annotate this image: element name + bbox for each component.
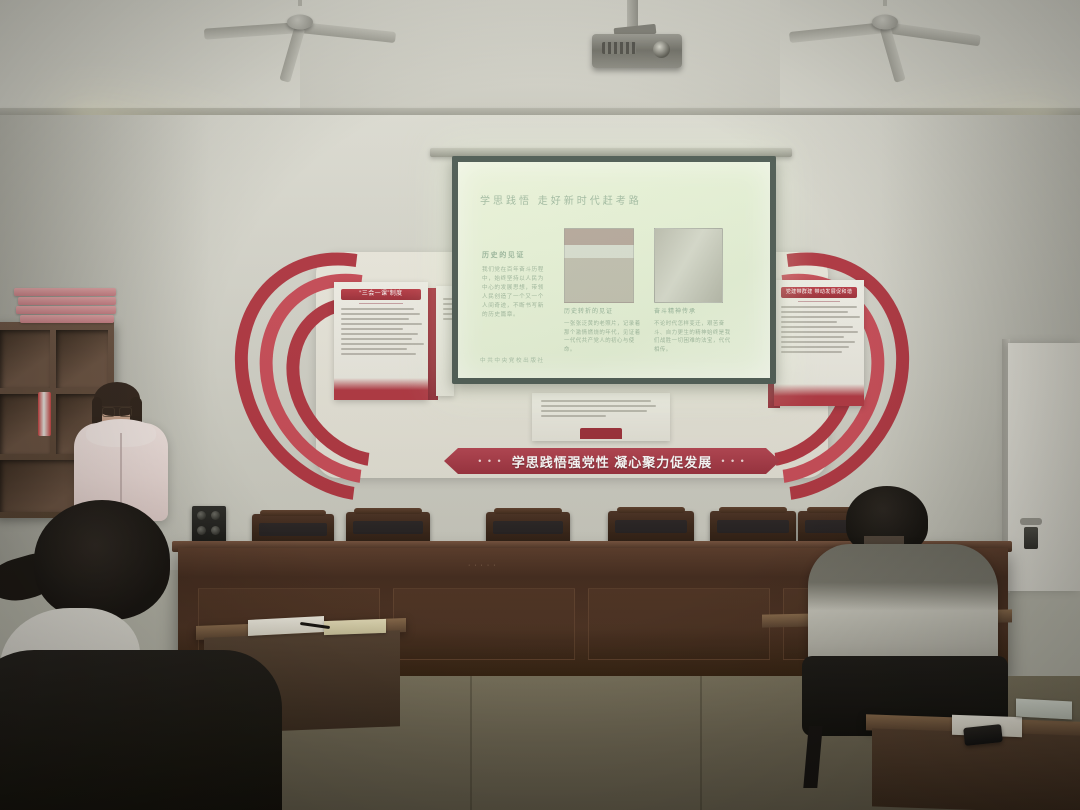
floor-tile-line xyxy=(700,676,702,810)
panel-text-line xyxy=(341,343,424,345)
banner-text: 学思践悟强党性 凝心聚力促发展 xyxy=(512,452,713,471)
attendee-dark-coat xyxy=(0,650,282,810)
banner-dots-left: • • • xyxy=(478,456,502,466)
ceiling-fan-left xyxy=(215,2,385,42)
podium-brand-label: · · · · · xyxy=(468,562,496,569)
panel-text-line xyxy=(781,351,842,353)
panel-text-line xyxy=(341,308,414,310)
fan-rod xyxy=(883,0,887,6)
fan-blade xyxy=(299,22,396,43)
slide-footer: 中共中央党校出版社 xyxy=(480,356,545,364)
stacked-red-document-folders xyxy=(14,288,116,324)
fan-hub xyxy=(872,15,898,30)
floor-tile-line xyxy=(470,676,472,810)
banner-dots-right: • • • xyxy=(721,456,745,466)
panel-text-line xyxy=(341,318,409,320)
attendee-two-tone-jacket xyxy=(808,544,998,672)
panel-text-line xyxy=(341,353,416,355)
ceiling-fan-right xyxy=(800,2,970,42)
panel-text-line xyxy=(781,346,849,348)
panel-text-line xyxy=(341,338,412,340)
shelf-cubby xyxy=(56,330,108,388)
slide-body-text: 我们党在百年奋斗历程中，始终坚持以人民为中心的发展思想，带领人民创造了一个又一个… xyxy=(482,266,544,320)
panel-footer-wave xyxy=(334,378,428,400)
panel-text-line xyxy=(781,336,844,338)
plaque-text-block xyxy=(541,400,661,417)
slide-caption-body-left: 一张张泛黄的老照片，记录着那个激情燃烧的年代，见证着一代代共产党人的初心与使命。 xyxy=(564,320,644,354)
folder-item xyxy=(14,288,116,296)
panel-divider xyxy=(798,301,839,302)
panel-text-line xyxy=(781,306,857,308)
ceiling-projector xyxy=(592,34,682,68)
glasses-icon xyxy=(102,406,132,415)
panel-text-line xyxy=(781,341,855,343)
podium-panel xyxy=(393,588,575,660)
fan-blade xyxy=(789,22,886,43)
slide-section-heading: 历史的见证 xyxy=(482,250,525,260)
panel-text-line xyxy=(341,333,418,335)
podium-panel xyxy=(588,588,770,660)
attendee-foreground-left xyxy=(0,500,282,810)
projector-lens-icon xyxy=(653,41,670,58)
panel-text-line xyxy=(341,323,422,325)
panel-footer-wave xyxy=(774,384,864,406)
slide-caption-body-right: 不论时代怎样变迁，艰苦奋斗、自力更生的精神始终是我们战胜一切困难的法宝，代代相传… xyxy=(654,320,734,354)
fan-hub xyxy=(287,15,313,30)
folder-item xyxy=(20,315,114,323)
panel-title: “三会一课”制度 xyxy=(341,289,421,300)
panel-text-line xyxy=(781,321,837,323)
slide-photo-left xyxy=(564,228,634,303)
tissue-pack xyxy=(1016,699,1072,720)
projector-vent xyxy=(602,42,636,54)
red-thermos-flask xyxy=(38,392,51,436)
panel-text-line xyxy=(781,326,853,328)
panel-text-line xyxy=(781,311,848,313)
panel-title: 党建带群建 带动发展促和谐 xyxy=(781,287,857,298)
panel-text-line xyxy=(341,313,420,315)
tiananmen-icon xyxy=(580,428,622,439)
panel-text-line xyxy=(341,348,407,350)
yellow-folder xyxy=(324,619,386,635)
folder-item xyxy=(16,306,116,314)
panel-text-line xyxy=(781,331,858,333)
panel-text-line xyxy=(341,328,403,330)
slide-caption-left: 历史转折的见证 xyxy=(564,306,613,315)
slide-title: 学思践悟 走好新时代赶考路 xyxy=(480,192,642,207)
chair-back[interactable] xyxy=(608,511,694,545)
chair-leg xyxy=(803,726,822,788)
attendee-hair xyxy=(34,500,170,620)
chair-back[interactable] xyxy=(710,511,796,545)
panel-text-line xyxy=(781,316,860,318)
folder-item xyxy=(18,297,116,305)
panel-party-building[interactable]: 党建带群建 带动发展促和谐 xyxy=(774,280,864,406)
projection-screen[interactable]: 学思践悟 走好新时代赶考路 历史的见证 我们党在百年奋斗历程中，始终坚持以人民为… xyxy=(452,156,776,384)
projected-slide: 学思践悟 走好新时代赶考路 历史的见证 我们党在百年奋斗历程中，始终坚持以人民为… xyxy=(458,162,770,378)
shelf-cubby xyxy=(0,330,50,388)
panel-three-meetings[interactable]: “三会一课”制度 xyxy=(334,282,428,400)
slide-photo-right xyxy=(654,228,723,303)
fan-blade xyxy=(204,22,301,40)
slide-caption-right: 奋斗精神传承 xyxy=(654,306,696,315)
panel-divider xyxy=(359,303,402,304)
fan-rod xyxy=(298,0,302,6)
conference-room-photo: “三会一课”制度 党建带群建 带动发展促和谐 xyxy=(0,0,1080,810)
center-plaque[interactable] xyxy=(532,393,670,441)
party-slogan-banner: • • • 学思践悟强党性 凝心聚力促发展 • • • xyxy=(444,448,780,474)
